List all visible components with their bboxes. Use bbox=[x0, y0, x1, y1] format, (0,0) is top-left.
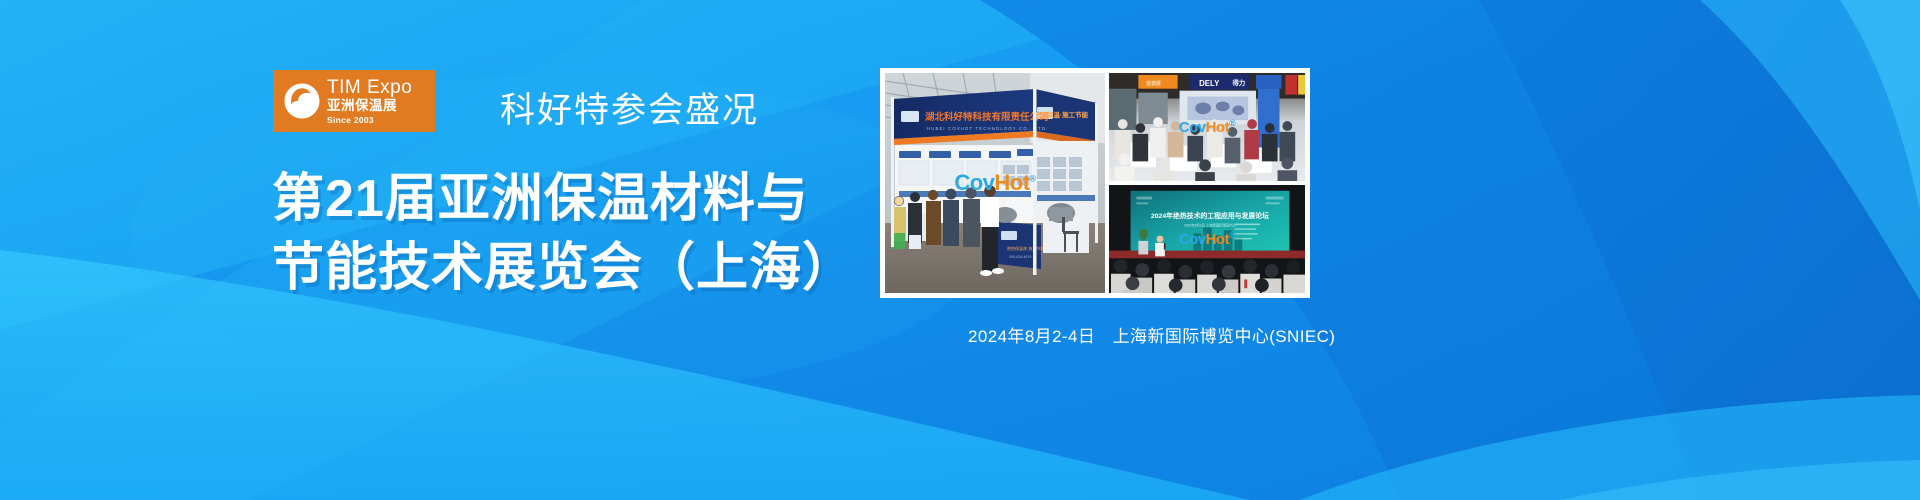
tim-expo-logo: TIM Expo 亚洲保温展 Since 2003 bbox=[273, 70, 435, 132]
title-line-2: 节能技术展览会（上海） bbox=[272, 234, 855, 303]
title-line-1: 第21届亚洲保温材料与 bbox=[272, 165, 855, 234]
tim-expo-yin-yang-mark-icon bbox=[281, 80, 323, 122]
forum-photo: 2024年绝热技术的工程应用与发展论坛 2024年8月2日 上海新国际博览中心 bbox=[1109, 185, 1305, 293]
logo-text-group: TIM Expo 亚洲保温展 Since 2003 bbox=[327, 78, 412, 124]
exhibition-hall-photo: 蓝德展 DELY 得力 bbox=[1109, 73, 1305, 181]
right-photo-column: 蓝德展 DELY 得力 bbox=[1109, 73, 1305, 293]
svg-text:HUBEI COVHOT TECHNOLOGY CO., L: HUBEI COVHOT TECHNOLOGY CO., LTD. bbox=[927, 126, 1048, 131]
svg-text:蓝德展: 蓝德展 bbox=[1146, 80, 1161, 87]
booth-photo: 湖北科好特科技有限责任公司 HUBEI COVHOT TECHNOLOGY CO… bbox=[885, 73, 1105, 293]
svg-text:绝热保温·施工节能: 绝热保温·施工节能 bbox=[1034, 110, 1089, 119]
svg-text:得力: 得力 bbox=[1231, 78, 1245, 87]
logo-english-name: TIM Expo bbox=[327, 78, 412, 97]
svg-text:2024年绝热技术的工程应用与发展论坛: 2024年绝热技术的工程应用与发展论坛 bbox=[1151, 211, 1269, 220]
svg-text:DELY: DELY bbox=[1199, 79, 1220, 88]
svg-text:400-026-4679: 400-026-4679 bbox=[1009, 255, 1031, 259]
svg-text:2024年8月2日 上海新国际博览中心: 2024年8月2日 上海新国际博览中心 bbox=[1184, 222, 1237, 227]
photo-collage: 湖北科好特科技有限责任公司 HUBEI COVHOT TECHNOLOGY CO… bbox=[880, 68, 1310, 298]
logo-since-text: Since 2003 bbox=[327, 116, 412, 125]
event-banner: TIM Expo 亚洲保温展 Since 2003 科好特参会盛况 第21届亚洲… bbox=[0, 0, 1920, 500]
svg-text:绝热保温漆·施工节能: 绝热保温漆·施工节能 bbox=[1007, 245, 1044, 251]
page-title: 第21届亚洲保温材料与 节能技术展览会（上海） bbox=[272, 165, 855, 302]
subheading: 科好特参会盛况 bbox=[500, 82, 759, 133]
logo-chinese-name: 亚洲保温展 bbox=[327, 99, 412, 113]
venue-and-date: 2024年8月2-4日 上海新国际博览中心(SNIEC) bbox=[968, 322, 1335, 347]
svg-text:湖北科好特科技有限责任公司: 湖北科好特科技有限责任公司 bbox=[925, 111, 1049, 123]
